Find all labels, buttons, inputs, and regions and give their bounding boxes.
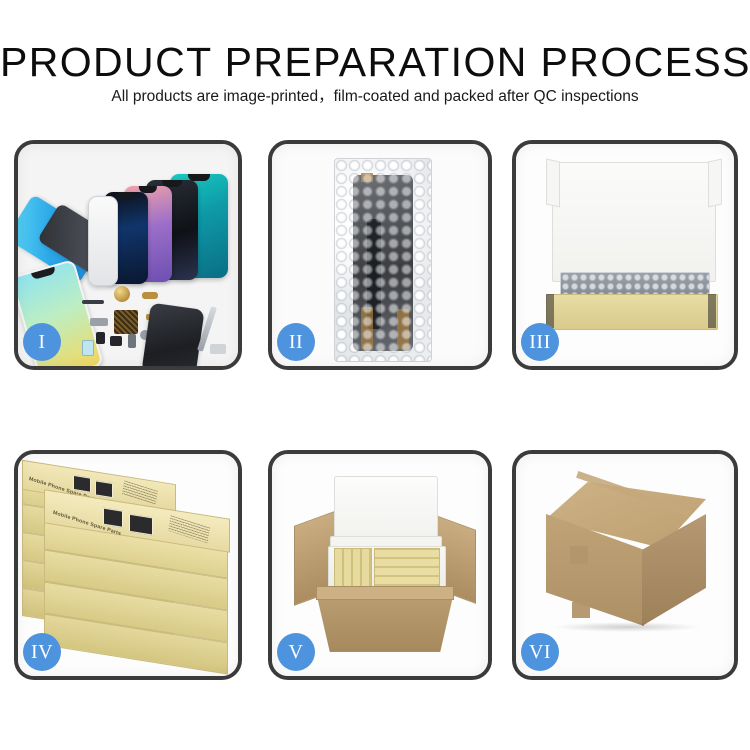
page-title: PRODUCT PREPARATION PROCESS <box>0 40 750 84</box>
part-vibrator <box>110 336 122 346</box>
foam-lid <box>552 162 716 282</box>
step-badge-6: VI <box>521 633 559 671</box>
phone-rear-housing <box>141 303 204 366</box>
step-panel-3: III <box>512 140 738 370</box>
step-badge-2: II <box>277 323 315 361</box>
foam-lid-flap-left <box>546 159 560 208</box>
box-label-lines-a <box>122 480 158 504</box>
carton-tape-tab-lower <box>572 602 590 618</box>
part-connector <box>142 292 158 299</box>
step-panel-5: V <box>268 450 492 680</box>
step-badge-1: I <box>23 323 61 361</box>
step-badge-5: V <box>277 633 315 671</box>
part-glass-chip <box>82 340 94 356</box>
step-panel-1: I <box>14 140 242 370</box>
bubble-wrap-bag <box>334 158 432 362</box>
part-speaker <box>96 332 105 344</box>
box-corner-shadow-right <box>708 294 716 328</box>
box-corner-shadow-left <box>546 294 554 328</box>
part-sim-tray <box>210 344 226 354</box>
box-label-swatch-a2 <box>95 480 113 498</box>
step-badge-4: IV <box>23 633 61 671</box>
step-panel-6: VI <box>512 450 738 680</box>
step-badge-3: III <box>521 323 559 361</box>
box-label-swatch-b2 <box>129 514 153 536</box>
foam-lid-flap-right <box>708 159 722 208</box>
carton-tape-tab-upper <box>570 546 588 564</box>
box-label-lines-b <box>168 515 210 543</box>
tempered-glass-sheet <box>88 196 118 286</box>
part-logic-board <box>114 310 138 334</box>
carton-shadow <box>552 622 702 632</box>
carton-front-rim <box>316 586 454 600</box>
part-button <box>128 334 136 348</box>
box-label-swatch-b1 <box>103 508 123 528</box>
part-camera-module <box>114 286 130 302</box>
inner-box-tray <box>546 294 718 330</box>
page-header: PRODUCT PREPARATION PROCESS All products… <box>0 0 750 130</box>
part-flex-strip <box>82 300 104 304</box>
part-bracket <box>90 318 108 326</box>
page-subtitle: All products are image-printed，film-coat… <box>0 87 750 107</box>
box-label-swatch-a1 <box>73 475 91 493</box>
step-panel-2: II <box>268 140 492 370</box>
step-panel-4: Mobile Phone Spare Parts Mobile Phone Sp… <box>14 450 242 680</box>
carton-front-body <box>316 592 454 652</box>
